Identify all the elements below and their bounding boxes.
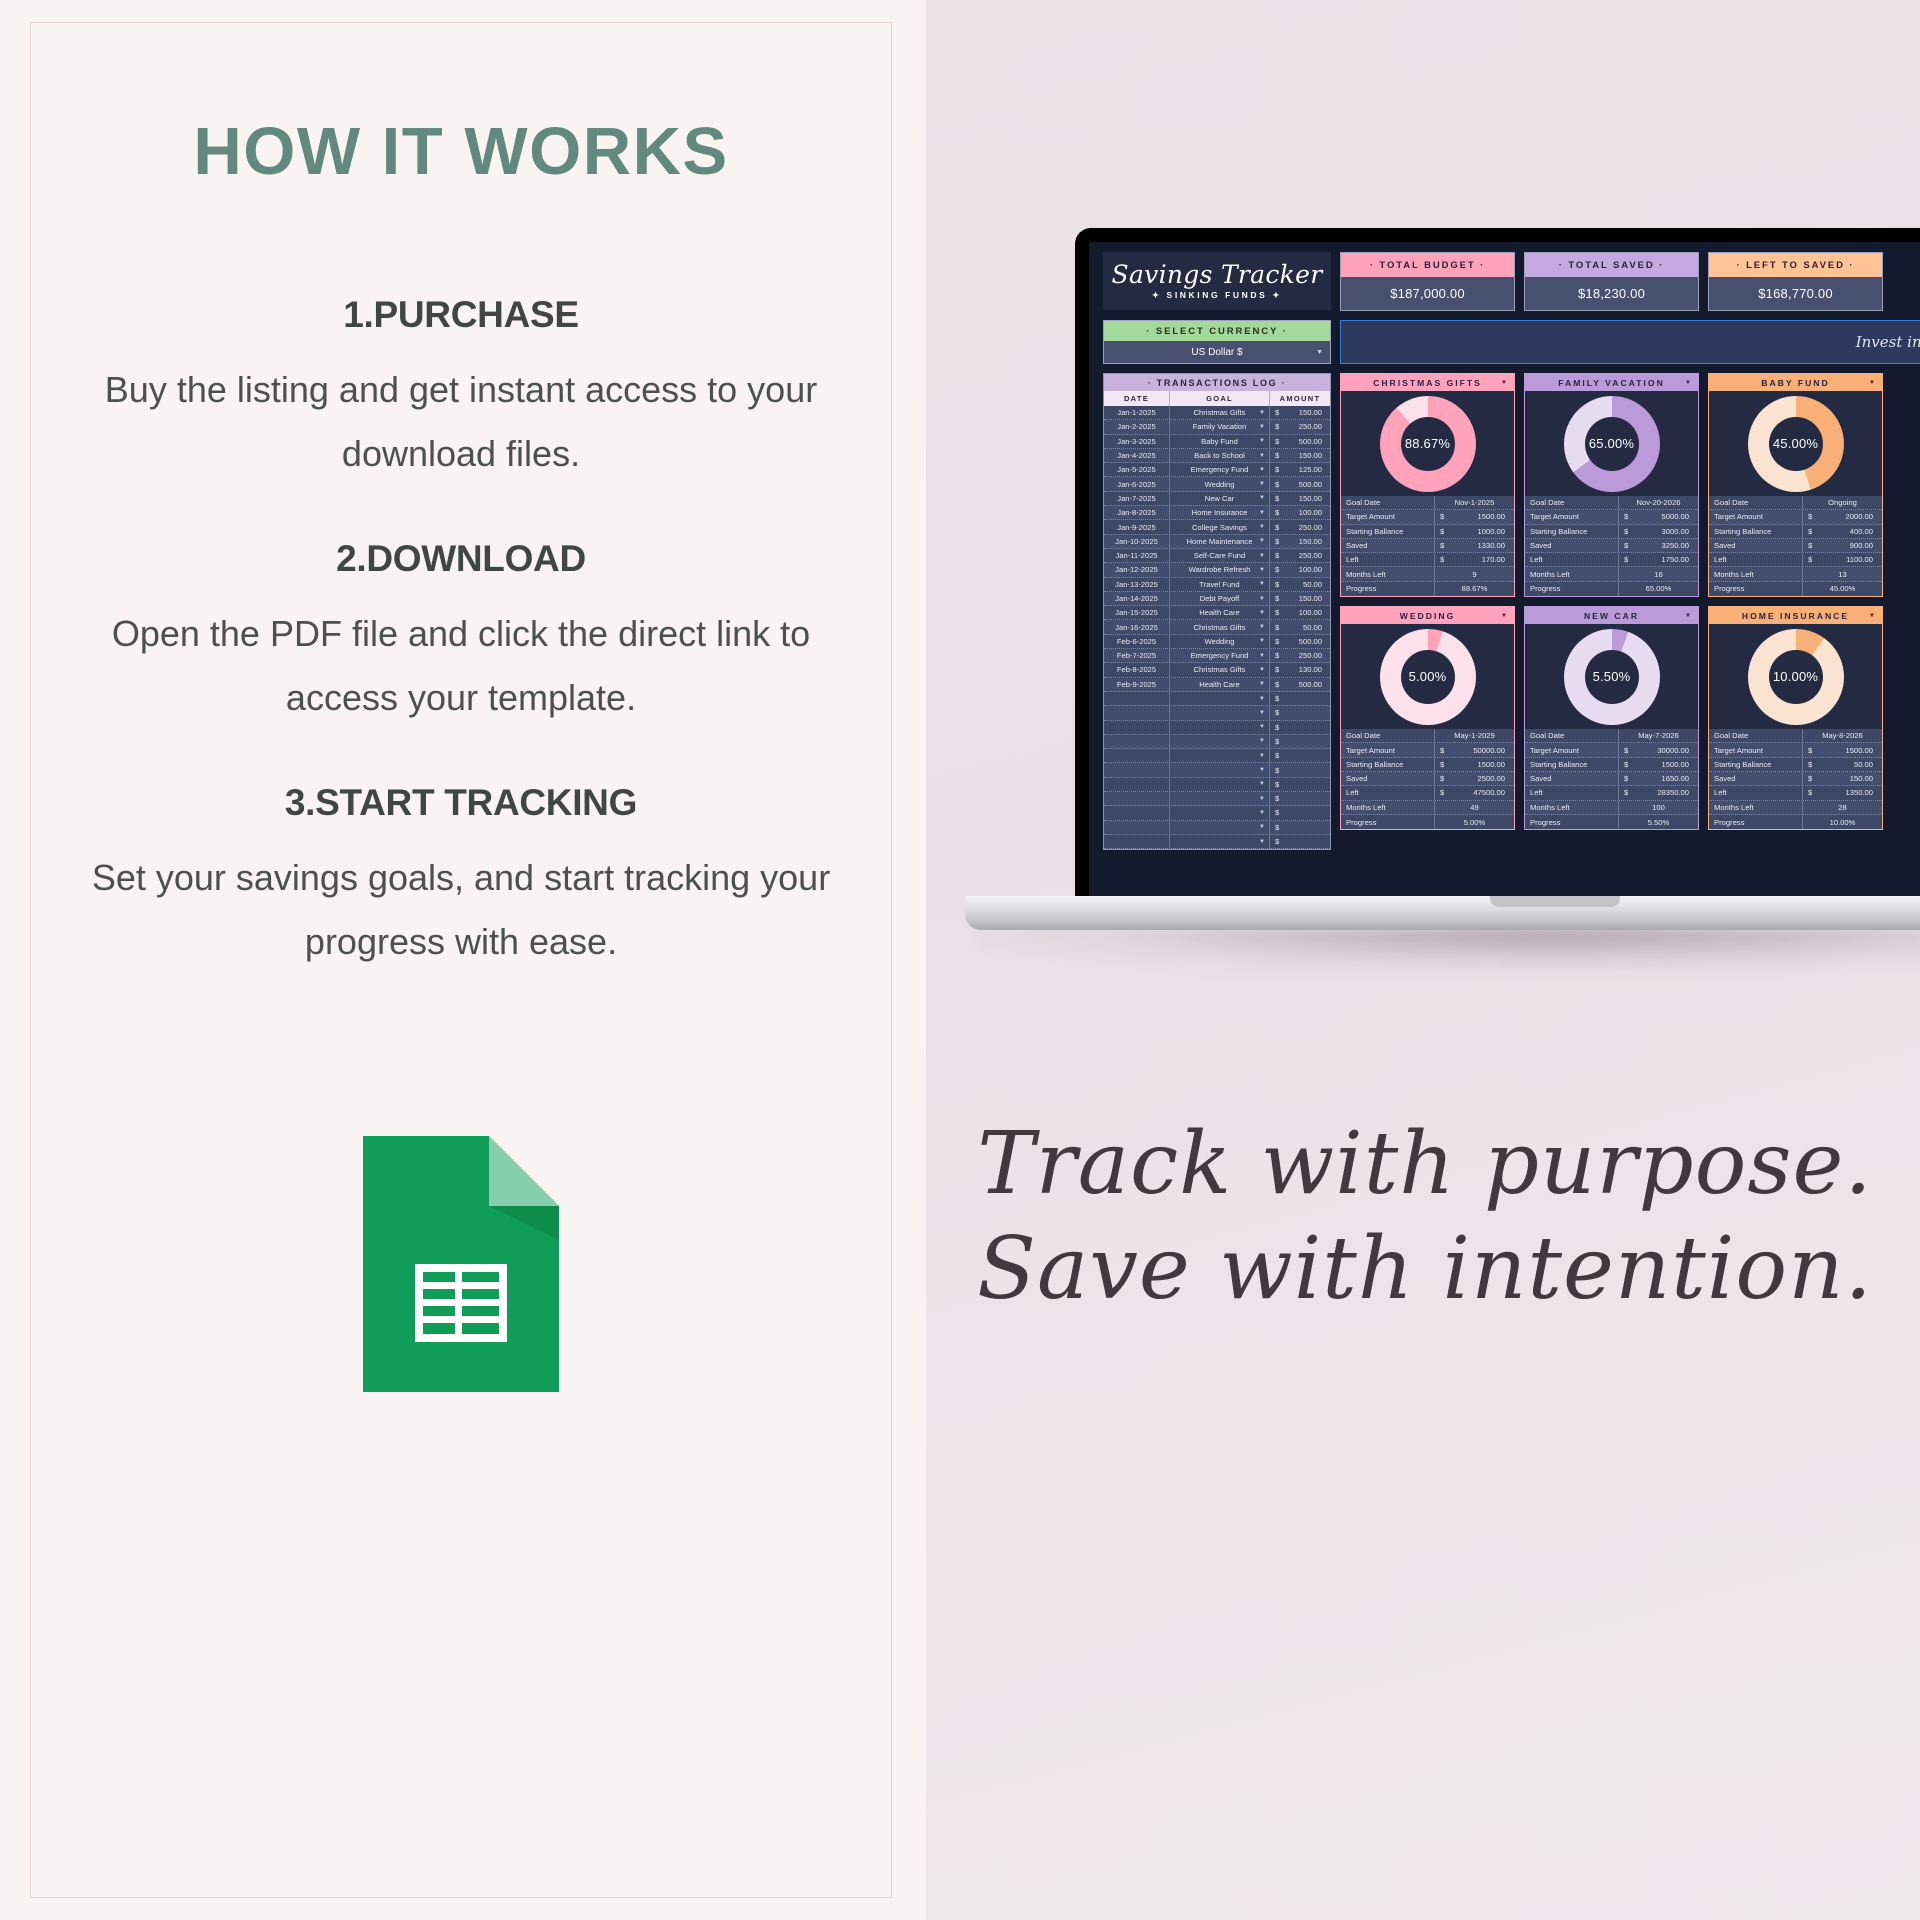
goal-detail-row: Goal DateOngoing [1709, 496, 1882, 510]
currency-selector-text: US Dollar $ [1191, 347, 1242, 358]
motivation-banner-text: Invest in your dreams [1856, 333, 1920, 351]
goal-detail-label: Goal Date [1709, 496, 1803, 509]
cell-goal[interactable]: ▼ [1170, 806, 1270, 819]
goal-detail-months-left: 13 [1803, 567, 1882, 580]
currency-symbol: $ [1275, 823, 1279, 832]
table-row[interactable]: Jan-14-2025Debt Payoff▼$150.00 [1104, 592, 1330, 606]
table-row[interactable]: Jan-12-2025Wardrobe Refresh▼$100.00 [1104, 563, 1330, 577]
cell-amount: $ [1270, 692, 1330, 705]
goal-detail-label: Months Left [1709, 801, 1803, 814]
table-row[interactable]: Jan-2-2025Family Vacation▼$250.00 [1104, 420, 1330, 434]
currency-symbol: $ [1808, 555, 1812, 564]
currency-symbol: $ [1275, 723, 1279, 732]
goal-cards-row-bottom: WEDDING▼5.00%Goal DateMay-1-2029Target A… [1340, 606, 1920, 830]
goal-detail-starting-balance: $1500.00 [1619, 758, 1698, 771]
currency-symbol: $ [1275, 637, 1279, 646]
goal-detail-row: Months Left9 [1341, 567, 1514, 581]
cell-goal[interactable]: Emergency Fund▼ [1170, 649, 1270, 662]
cell-goal[interactable]: ▼ [1170, 792, 1270, 805]
table-row[interactable]: ▼$ [1104, 721, 1330, 735]
goal-card[interactable]: BABY FUND▼45.00%Goal DateOngoingTarget A… [1708, 373, 1883, 597]
tagline-line-1: Track with purpose. [960, 1112, 1890, 1217]
goal-detail-label: Goal Date [1709, 729, 1803, 742]
chevron-down-icon: ▼ [1259, 767, 1265, 773]
metric-total-saved: · TOTAL SAVED · $18,230.00 [1524, 252, 1699, 311]
cell-goal[interactable]: Home Maintenance▼ [1170, 535, 1270, 548]
goal-detail-row: Months Left13 [1709, 567, 1882, 581]
tagline-line-2: Save with intention. [960, 1217, 1890, 1322]
currency-symbol: $ [1440, 788, 1444, 797]
goal-detail-label: Progress [1709, 582, 1803, 596]
currency-symbol: $ [1275, 680, 1279, 689]
table-row[interactable]: Jan-5-2025Emergency Fund▼$125.00 [1104, 463, 1330, 477]
cell-date: Jan-16-2025 [1104, 620, 1170, 633]
goal-card-title[interactable]: HOME INSURANCE▼ [1709, 607, 1882, 624]
promo-graphic: HOW IT WORKS 1.PURCHASE Buy the listing … [0, 0, 1920, 1920]
goal-detail-goal-date: Nov-20-2026 [1619, 496, 1698, 509]
cell-goal[interactable]: Wedding▼ [1170, 635, 1270, 648]
goal-detail-row: Target Amount$2000.00 [1709, 510, 1882, 524]
metric-total-saved-label: · TOTAL SAVED · [1525, 253, 1698, 277]
laptop-notch [1490, 896, 1620, 907]
laptop-bezel: Savings Tracker ✦ SINKING FUNDS ✦ · TOTA… [1075, 228, 1920, 900]
page-title: HOW IT WORKS [193, 113, 728, 190]
goal-detail-label: Starting Ballance [1525, 525, 1619, 538]
donut-percent-label: 65.00% [1564, 396, 1660, 492]
goal-card-title[interactable]: BABY FUND▼ [1709, 374, 1882, 391]
chevron-down-icon: ▼ [1259, 610, 1265, 616]
cell-goal[interactable]: Christmas Gifts▼ [1170, 663, 1270, 676]
table-row[interactable]: ▼$ [1104, 763, 1330, 777]
currency-symbol: $ [1624, 760, 1628, 769]
cell-date: Jan-10-2025 [1104, 535, 1170, 548]
chevron-down-icon: ▼ [1259, 553, 1265, 559]
donut-ring: 5.00% [1380, 629, 1476, 725]
cell-date [1104, 778, 1170, 791]
cell-date: Feb-9-2025 [1104, 678, 1170, 691]
cell-amount: $130.00 [1270, 663, 1330, 676]
goal-detail-row: Saved$150.00 [1709, 772, 1882, 786]
cell-goal[interactable]: ▼ [1170, 749, 1270, 762]
table-row[interactable]: ▼$ [1104, 792, 1330, 806]
cell-goal[interactable]: ▼ [1170, 706, 1270, 719]
currency-symbol: $ [1808, 746, 1812, 755]
cell-date: Jan-15-2025 [1104, 606, 1170, 619]
cell-goal[interactable]: Christmas Gifts▼ [1170, 406, 1270, 419]
goal-detail-row: Target Amount$1500.00 [1709, 743, 1882, 757]
currency-symbol: $ [1808, 541, 1812, 550]
cell-date: Feb-7-2025 [1104, 649, 1170, 662]
chevron-down-icon: ▼ [1259, 495, 1265, 501]
chevron-down-icon: ▼ [1316, 349, 1323, 356]
currency-symbol: $ [1808, 512, 1812, 521]
cell-date: Jan-11-2025 [1104, 549, 1170, 562]
app-subtitle: ✦ SINKING FUNDS ✦ [1152, 290, 1282, 301]
goal-detail-row: Target Amount$30000.00 [1525, 743, 1698, 757]
goal-card-title[interactable]: WEDDING▼ [1341, 607, 1514, 624]
chevron-down-icon: ▼ [1259, 467, 1265, 473]
cell-date [1104, 749, 1170, 762]
cell-date: Jan-4-2025 [1104, 449, 1170, 462]
goal-detail-months-left: 9 [1435, 567, 1514, 580]
goal-detail-label: Saved [1525, 539, 1619, 552]
goal-detail-row: Starting Ballance$1500.00 [1525, 758, 1698, 772]
currency-selector-value[interactable]: US Dollar $ ▼ [1104, 341, 1330, 363]
cell-goal[interactable]: Christmas Gifts▼ [1170, 620, 1270, 633]
cell-date [1104, 735, 1170, 748]
goal-detail-left: $170.00 [1435, 553, 1514, 566]
cell-amount: $ [1270, 735, 1330, 748]
cell-goal[interactable]: ▼ [1170, 821, 1270, 834]
chevron-down-icon: ▼ [1259, 438, 1265, 444]
currency-symbol: $ [1440, 555, 1444, 564]
goal-cards-row-top: CHRISTMAS GIFTS▼88.67%Goal DateNov-1-202… [1340, 373, 1920, 597]
cell-goal[interactable]: Family Vacation▼ [1170, 420, 1270, 433]
cell-goal[interactable]: New Car▼ [1170, 492, 1270, 505]
laptop-base [965, 896, 1920, 930]
cell-amount: $250.00 [1270, 520, 1330, 533]
cell-amount: $100.00 [1270, 563, 1330, 576]
goal-detail-starting-balance: $50.00 [1803, 758, 1882, 771]
chevron-down-icon: ▼ [1259, 581, 1265, 587]
goal-card-title[interactable]: NEW CAR▼ [1525, 607, 1698, 624]
cell-goal[interactable]: ▼ [1170, 735, 1270, 748]
goal-detail-row: Goal DateNov-20-2026 [1525, 496, 1698, 510]
goal-detail-saved: $3250.00 [1619, 539, 1698, 552]
goal-detail-label: Left [1709, 786, 1803, 799]
goal-detail-label: Target Amount [1525, 743, 1619, 756]
goal-detail-label: Left [1525, 553, 1619, 566]
goal-card[interactable]: NEW CAR▼5.50%Goal DateMay-7-2026Target A… [1524, 606, 1699, 830]
cell-goal[interactable]: Back to School▼ [1170, 449, 1270, 462]
cell-goal[interactable]: Wedding▼ [1170, 477, 1270, 490]
chevron-down-icon: ▼ [1259, 724, 1265, 730]
laptop-mockup: Savings Tracker ✦ SINKING FUNDS ✦ · TOTA… [1075, 228, 1920, 900]
goal-detail-label: Goal Date [1525, 496, 1619, 509]
goal-detail-starting-balance: $3000.00 [1619, 525, 1698, 538]
goal-detail-target-amount: $1500.00 [1803, 743, 1882, 756]
table-row[interactable]: Jan-9-2025College Savings▼$250.00 [1104, 520, 1330, 534]
table-row[interactable]: Jan-13-2025Travel Fund▼$50.00 [1104, 578, 1330, 592]
table-row[interactable]: ▼$ [1104, 778, 1330, 792]
cell-goal[interactable]: Health Care▼ [1170, 678, 1270, 691]
goal-detail-label: Months Left [1525, 567, 1619, 580]
donut-percent-label: 10.00% [1748, 629, 1844, 725]
metric-left-to-save: · LEFT TO SAVED · $168,770.00 [1708, 252, 1883, 311]
table-row[interactable]: ▼$ [1104, 706, 1330, 720]
dashboard-header-row: Savings Tracker ✦ SINKING FUNDS ✦ · TOTA… [1103, 252, 1920, 311]
donut-ring: 65.00% [1564, 396, 1660, 492]
currency-symbol: $ [1275, 780, 1279, 789]
cell-date: Feb-8-2025 [1104, 663, 1170, 676]
cell-goal[interactable]: ▼ [1170, 835, 1270, 848]
table-row[interactable]: ▼$ [1104, 749, 1330, 763]
cell-date: Jan-1-2025 [1104, 406, 1170, 419]
goal-detail-label: Left [1525, 786, 1619, 799]
laptop-shadow [975, 928, 1920, 974]
cell-amount: $100.00 [1270, 606, 1330, 619]
goal-detail-label: Starting Ballance [1525, 758, 1619, 771]
goal-detail-table: Goal DateMay-7-2026Target Amount$30000.0… [1525, 729, 1698, 829]
table-row[interactable]: Jan-11-2025Self-Care Fund▼$250.00 [1104, 549, 1330, 563]
cell-goal[interactable]: Emergency Fund▼ [1170, 463, 1270, 476]
currency-symbol: $ [1275, 565, 1279, 574]
motivation-banner: Invest in your dreams [1340, 320, 1920, 364]
table-row[interactable]: Jan-6-2025Wedding▼$500.00 [1104, 477, 1330, 491]
goal-detail-label: Saved [1341, 772, 1435, 785]
currency-symbol: $ [1440, 774, 1444, 783]
goal-card[interactable]: CHRISTMAS GIFTS▼88.67%Goal DateNov-1-202… [1340, 373, 1515, 597]
goal-detail-row: Months Left49 [1341, 801, 1514, 815]
cell-goal[interactable]: ▼ [1170, 778, 1270, 791]
goal-detail-progress: 88.67% [1435, 582, 1514, 596]
goal-detail-row: Left$170.00 [1341, 553, 1514, 567]
goal-detail-label: Starting Ballance [1341, 525, 1435, 538]
currency-symbol: $ [1275, 608, 1279, 617]
goal-detail-table: Goal DateMay-1-2029Target Amount$50000.0… [1341, 729, 1514, 829]
goal-detail-row: Goal DateNov-1-2025 [1341, 496, 1514, 510]
currency-symbol: $ [1275, 665, 1279, 674]
goal-detail-label: Saved [1341, 539, 1435, 552]
currency-symbol: $ [1624, 788, 1628, 797]
goal-detail-row: Progress5.50% [1525, 815, 1698, 829]
table-row[interactable]: ▼$ [1104, 821, 1330, 835]
column-header-amount: AMOUNT [1270, 391, 1330, 406]
cell-goal[interactable]: Debt Payoff▼ [1170, 592, 1270, 605]
chevron-down-icon: ▼ [1259, 839, 1265, 845]
donut-percent-label: 88.67% [1380, 396, 1476, 492]
goal-card[interactable]: FAMILY VACATION▼65.00%Goal DateNov-20-20… [1524, 373, 1699, 597]
goal-donut-chart: 45.00% [1709, 391, 1882, 496]
step-3-title: 3.START TRACKING [31, 782, 891, 824]
chevron-down-icon: ▼ [1501, 613, 1509, 619]
cell-amount: $150.00 [1270, 592, 1330, 605]
goal-detail-label: Saved [1709, 772, 1803, 785]
goal-detail-label: Saved [1525, 772, 1619, 785]
goal-detail-row: Progress5.00% [1341, 815, 1514, 829]
goal-detail-row: Starting Ballance$3000.00 [1525, 525, 1698, 539]
goal-detail-label: Target Amount [1341, 510, 1435, 523]
goal-detail-row: Saved$1330.00 [1341, 539, 1514, 553]
chevron-down-icon: ▼ [1259, 696, 1265, 702]
table-row[interactable]: Jan-4-2025Back to School▼$150.00 [1104, 449, 1330, 463]
chevron-down-icon: ▼ [1259, 567, 1265, 573]
chevron-down-icon: ▼ [1259, 653, 1265, 659]
step-2: 2.DOWNLOAD Open the PDF file and click t… [31, 538, 891, 730]
metric-left-to-save-label: · LEFT TO SAVED · [1709, 253, 1882, 277]
cell-goal[interactable]: Home Insurance▼ [1170, 506, 1270, 519]
cell-goal[interactable]: Travel Fund▼ [1170, 578, 1270, 591]
cell-goal[interactable]: Self-Care Fund▼ [1170, 549, 1270, 562]
cell-amount: $ [1270, 792, 1330, 805]
chevron-down-icon: ▼ [1259, 796, 1265, 802]
cell-goal[interactable]: Wardrobe Refresh▼ [1170, 563, 1270, 576]
goal-detail-label: Months Left [1525, 801, 1619, 814]
currency-symbol: $ [1808, 774, 1812, 783]
chevron-down-icon: ▼ [1259, 481, 1265, 487]
cell-amount: $ [1270, 721, 1330, 734]
donut-ring: 88.67% [1380, 396, 1476, 492]
table-row[interactable]: Feb-6-2025Wedding▼$500.00 [1104, 635, 1330, 649]
step-3-body: Set your savings goals, and start tracki… [81, 846, 841, 974]
currency-symbol: $ [1275, 465, 1279, 474]
table-row[interactable]: ▼$ [1104, 835, 1330, 849]
cell-date [1104, 706, 1170, 719]
cell-amount: $ [1270, 749, 1330, 762]
cell-date: Jan-5-2025 [1104, 463, 1170, 476]
goal-detail-row: Starting Ballance$50.00 [1709, 758, 1882, 772]
how-it-works-panel: HOW IT WORKS 1.PURCHASE Buy the listing … [0, 0, 920, 1920]
goal-detail-row: Target Amount$5000.00 [1525, 510, 1698, 524]
currency-symbol: $ [1275, 523, 1279, 532]
goal-donut-chart: 88.67% [1341, 391, 1514, 496]
goal-detail-row: Goal DateMay-1-2029 [1341, 729, 1514, 743]
cell-goal[interactable]: ▼ [1170, 721, 1270, 734]
currency-symbol: $ [1440, 512, 1444, 521]
cell-date: Jan-7-2025 [1104, 492, 1170, 505]
currency-symbol: $ [1275, 480, 1279, 489]
currency-symbol: $ [1275, 708, 1279, 717]
goal-detail-starting-balance: $1000.00 [1435, 525, 1514, 538]
goal-detail-label: Target Amount [1709, 743, 1803, 756]
dashboard-main-row: · TRANSACTIONS LOG · DATE GOAL AMOUNT Ja… [1103, 373, 1920, 850]
cell-amount: $100.00 [1270, 506, 1330, 519]
metric-total-saved-value: $18,230.00 [1525, 277, 1698, 310]
goal-detail-row: Progress45.00% [1709, 582, 1882, 596]
goal-detail-label: Saved [1709, 539, 1803, 552]
goal-detail-row: Left$1750.00 [1525, 553, 1698, 567]
chevron-down-icon: ▼ [1259, 538, 1265, 544]
currency-symbol: $ [1275, 494, 1279, 503]
currency-symbol: $ [1440, 760, 1444, 769]
cell-goal[interactable]: Health Care▼ [1170, 606, 1270, 619]
table-row[interactable]: Jan-7-2025New Car▼$150.00 [1104, 492, 1330, 506]
app-title: Savings Tracker [1112, 262, 1323, 287]
chevron-down-icon: ▼ [1259, 453, 1265, 459]
currency-symbol: $ [1440, 541, 1444, 550]
chevron-down-icon: ▼ [1869, 380, 1877, 386]
table-row[interactable]: Jan-15-2025Health Care▼$100.00 [1104, 606, 1330, 620]
chevron-down-icon: ▼ [1259, 510, 1265, 516]
cell-goal[interactable]: Baby Fund▼ [1170, 435, 1270, 448]
currency-symbol: $ [1808, 527, 1812, 536]
goal-card[interactable]: HOME INSURANCE▼10.00%Goal DateMay-8-2026… [1708, 606, 1883, 830]
cell-amount: $50.00 [1270, 620, 1330, 633]
currency-symbol: $ [1808, 788, 1812, 797]
goal-detail-months-left: 49 [1435, 801, 1514, 814]
chevron-down-icon: ▼ [1259, 781, 1265, 787]
cell-goal[interactable]: ▼ [1170, 763, 1270, 776]
table-row[interactable]: Jan-10-2025Home Maintenance▼$150.00 [1104, 535, 1330, 549]
cell-date [1104, 763, 1170, 776]
cell-amount: $500.00 [1270, 678, 1330, 691]
chevron-down-icon: ▼ [1685, 613, 1693, 619]
table-row[interactable]: ▼$ [1104, 806, 1330, 820]
goal-detail-months-left: 16 [1619, 567, 1698, 580]
cell-goal[interactable]: College Savings▼ [1170, 520, 1270, 533]
goal-detail-row: Saved$1650.00 [1525, 772, 1698, 786]
cell-date [1104, 821, 1170, 834]
currency-symbol: $ [1624, 774, 1628, 783]
goal-detail-goal-date: Ongoing [1803, 496, 1882, 509]
table-row[interactable]: Jan-16-2025Christmas Gifts▼$50.00 [1104, 620, 1330, 634]
donut-ring: 5.50% [1564, 629, 1660, 725]
transactions-log-title: · TRANSACTIONS LOG · [1104, 374, 1330, 391]
goal-detail-progress: 5.00% [1435, 815, 1514, 829]
goal-detail-target-amount: $2000.00 [1803, 510, 1882, 523]
step-1-title: 1.PURCHASE [31, 294, 891, 336]
cell-amount: $150.00 [1270, 535, 1330, 548]
goal-donut-chart: 65.00% [1525, 391, 1698, 496]
cell-date [1104, 721, 1170, 734]
cell-amount: $250.00 [1270, 420, 1330, 433]
goal-detail-progress: 65.00% [1619, 582, 1698, 596]
goal-detail-label: Starting Ballance [1709, 525, 1803, 538]
goal-detail-saved: $2500.00 [1435, 772, 1514, 785]
step-3: 3.START TRACKING Set your savings goals,… [31, 782, 891, 974]
table-row[interactable]: ▼$ [1104, 692, 1330, 706]
transactions-log-body: Jan-1-2025Christmas Gifts▼$150.00Jan-2-2… [1104, 406, 1330, 849]
currency-selector[interactable]: · SELECT CURRENCY · US Dollar $ ▼ [1103, 320, 1331, 364]
goal-detail-row: Progress65.00% [1525, 582, 1698, 596]
goal-detail-saved: $1330.00 [1435, 539, 1514, 552]
goal-detail-progress: 10.00% [1803, 815, 1882, 829]
goal-detail-label: Progress [1709, 815, 1803, 829]
cell-date: Jan-9-2025 [1104, 520, 1170, 533]
transactions-log-header: DATE GOAL AMOUNT [1104, 391, 1330, 406]
goal-card-title[interactable]: FAMILY VACATION▼ [1525, 374, 1698, 391]
goal-detail-saved: $900.00 [1803, 539, 1882, 552]
table-row[interactable]: ▼$ [1104, 735, 1330, 749]
cell-date: Feb-6-2025 [1104, 635, 1170, 648]
goal-detail-row: Saved$900.00 [1709, 539, 1882, 553]
cell-goal[interactable]: ▼ [1170, 692, 1270, 705]
chevron-down-icon: ▼ [1259, 738, 1265, 744]
goal-detail-label: Left [1709, 553, 1803, 566]
goal-detail-label: Left [1341, 553, 1435, 566]
table-row[interactable]: Jan-3-2025Baby Fund▼$500.00 [1104, 435, 1330, 449]
cell-amount: $250.00 [1270, 549, 1330, 562]
goal-card[interactable]: WEDDING▼5.00%Goal DateMay-1-2029Target A… [1340, 606, 1515, 830]
metric-total-budget: · TOTAL BUDGET · $187,000.00 [1340, 252, 1515, 311]
currency-symbol: $ [1440, 746, 1444, 755]
table-row[interactable]: Feb-9-2025Health Care▼$500.00 [1104, 678, 1330, 692]
cell-amount: $ [1270, 778, 1330, 791]
goal-detail-row: Months Left28 [1709, 801, 1882, 815]
goal-detail-months-left: 100 [1619, 801, 1698, 814]
chevron-down-icon: ▼ [1259, 753, 1265, 759]
goal-detail-target-amount: $1500.00 [1435, 510, 1514, 523]
donut-ring: 45.00% [1748, 396, 1844, 492]
table-row[interactable]: Jan-1-2025Christmas Gifts▼$150.00 [1104, 406, 1330, 420]
donut-percent-label: 45.00% [1748, 396, 1844, 492]
currency-symbol: $ [1275, 551, 1279, 560]
goal-detail-label: Months Left [1709, 567, 1803, 580]
goal-detail-months-left: 28 [1803, 801, 1882, 814]
table-row[interactable]: Feb-7-2025Emergency Fund▼$250.00 [1104, 649, 1330, 663]
donut-percent-label: 5.00% [1380, 629, 1476, 725]
goal-detail-goal-date: May-8-2026 [1803, 729, 1882, 742]
goal-detail-row: Goal DateMay-7-2026 [1525, 729, 1698, 743]
table-row[interactable]: Feb-8-2025Christmas Gifts▼$130.00 [1104, 663, 1330, 677]
step-2-title: 2.DOWNLOAD [31, 538, 891, 580]
table-row[interactable]: Jan-8-2025Home Insurance▼$100.00 [1104, 506, 1330, 520]
goal-card-title[interactable]: CHRISTMAS GIFTS▼ [1341, 374, 1514, 391]
savings-tracker-spreadsheet: Savings Tracker ✦ SINKING FUNDS ✦ · TOTA… [1089, 242, 1920, 850]
goal-detail-label: Target Amount [1709, 510, 1803, 523]
google-sheets-icon [363, 1136, 559, 1392]
goal-detail-left: $1350.00 [1803, 786, 1882, 799]
